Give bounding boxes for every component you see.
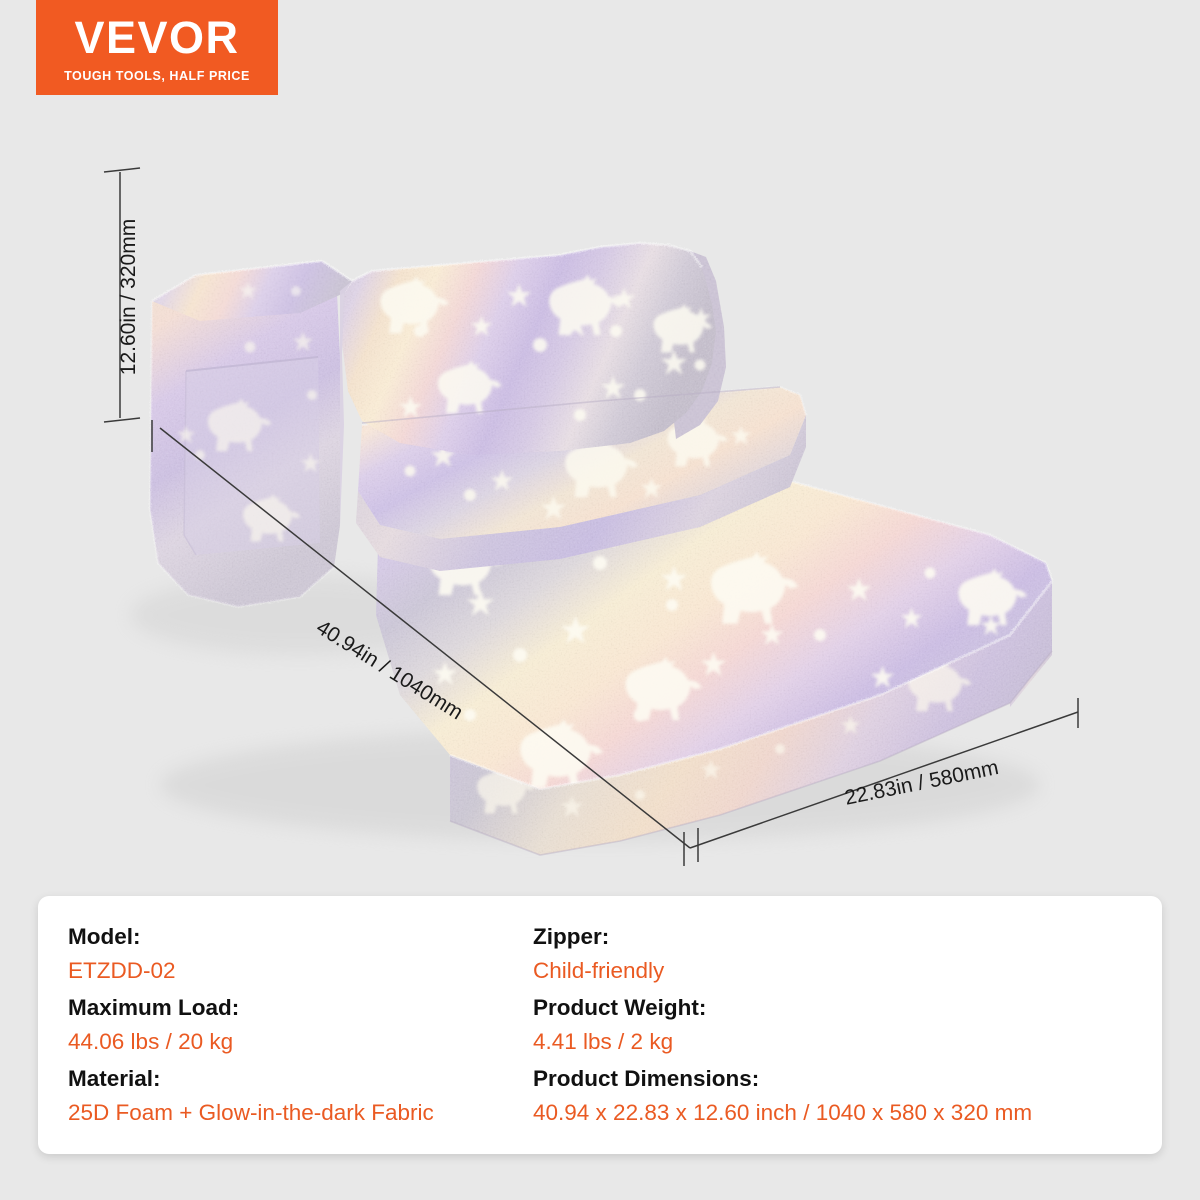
spec-label-max-load: Maximum Load: (68, 997, 518, 1020)
left-armrest (150, 261, 352, 607)
spec-value-weight: 4.41 lbs / 2 kg (533, 1031, 1162, 1054)
spec-label-weight: Product Weight: (533, 997, 1162, 1020)
spec-label-material: Material: (68, 1068, 518, 1091)
spec-label-model: Model: (68, 926, 518, 949)
brand-wordmark: VEVOR (74, 15, 239, 60)
brand-tagline: TOUGH TOOLS, HALF PRICE (64, 69, 250, 83)
spec-value-material: 25D Foam + Glow-in-the-dark Fabric (68, 1102, 518, 1125)
spec-value-model: ETZDD-02 (68, 960, 518, 983)
spec-column-left: Model: ETZDD-02 Maximum Load: 44.06 lbs … (38, 926, 518, 1124)
spec-label-dimensions: Product Dimensions: (533, 1068, 1162, 1091)
product-scene (0, 95, 1200, 885)
spec-column-right: Zipper: Child-friendly Product Weight: 4… (518, 926, 1162, 1124)
vevor-logo: VEVOR TOUGH TOOLS, HALF PRICE (36, 0, 278, 95)
dimension-label-height: 12.60in / 320mm (117, 219, 141, 375)
specification-card: Model: ETZDD-02 Maximum Load: 44.06 lbs … (38, 896, 1162, 1154)
spec-value-zipper: Child-friendly (533, 960, 1162, 983)
spec-label-zipper: Zipper: (533, 926, 1162, 949)
spec-value-dimensions: 40.94 x 22.83 x 12.60 inch / 1040 x 580 … (533, 1102, 1162, 1125)
spec-value-max-load: 44.06 lbs / 20 kg (68, 1031, 518, 1054)
product-photo-kids-sofa-bed (0, 95, 1200, 885)
